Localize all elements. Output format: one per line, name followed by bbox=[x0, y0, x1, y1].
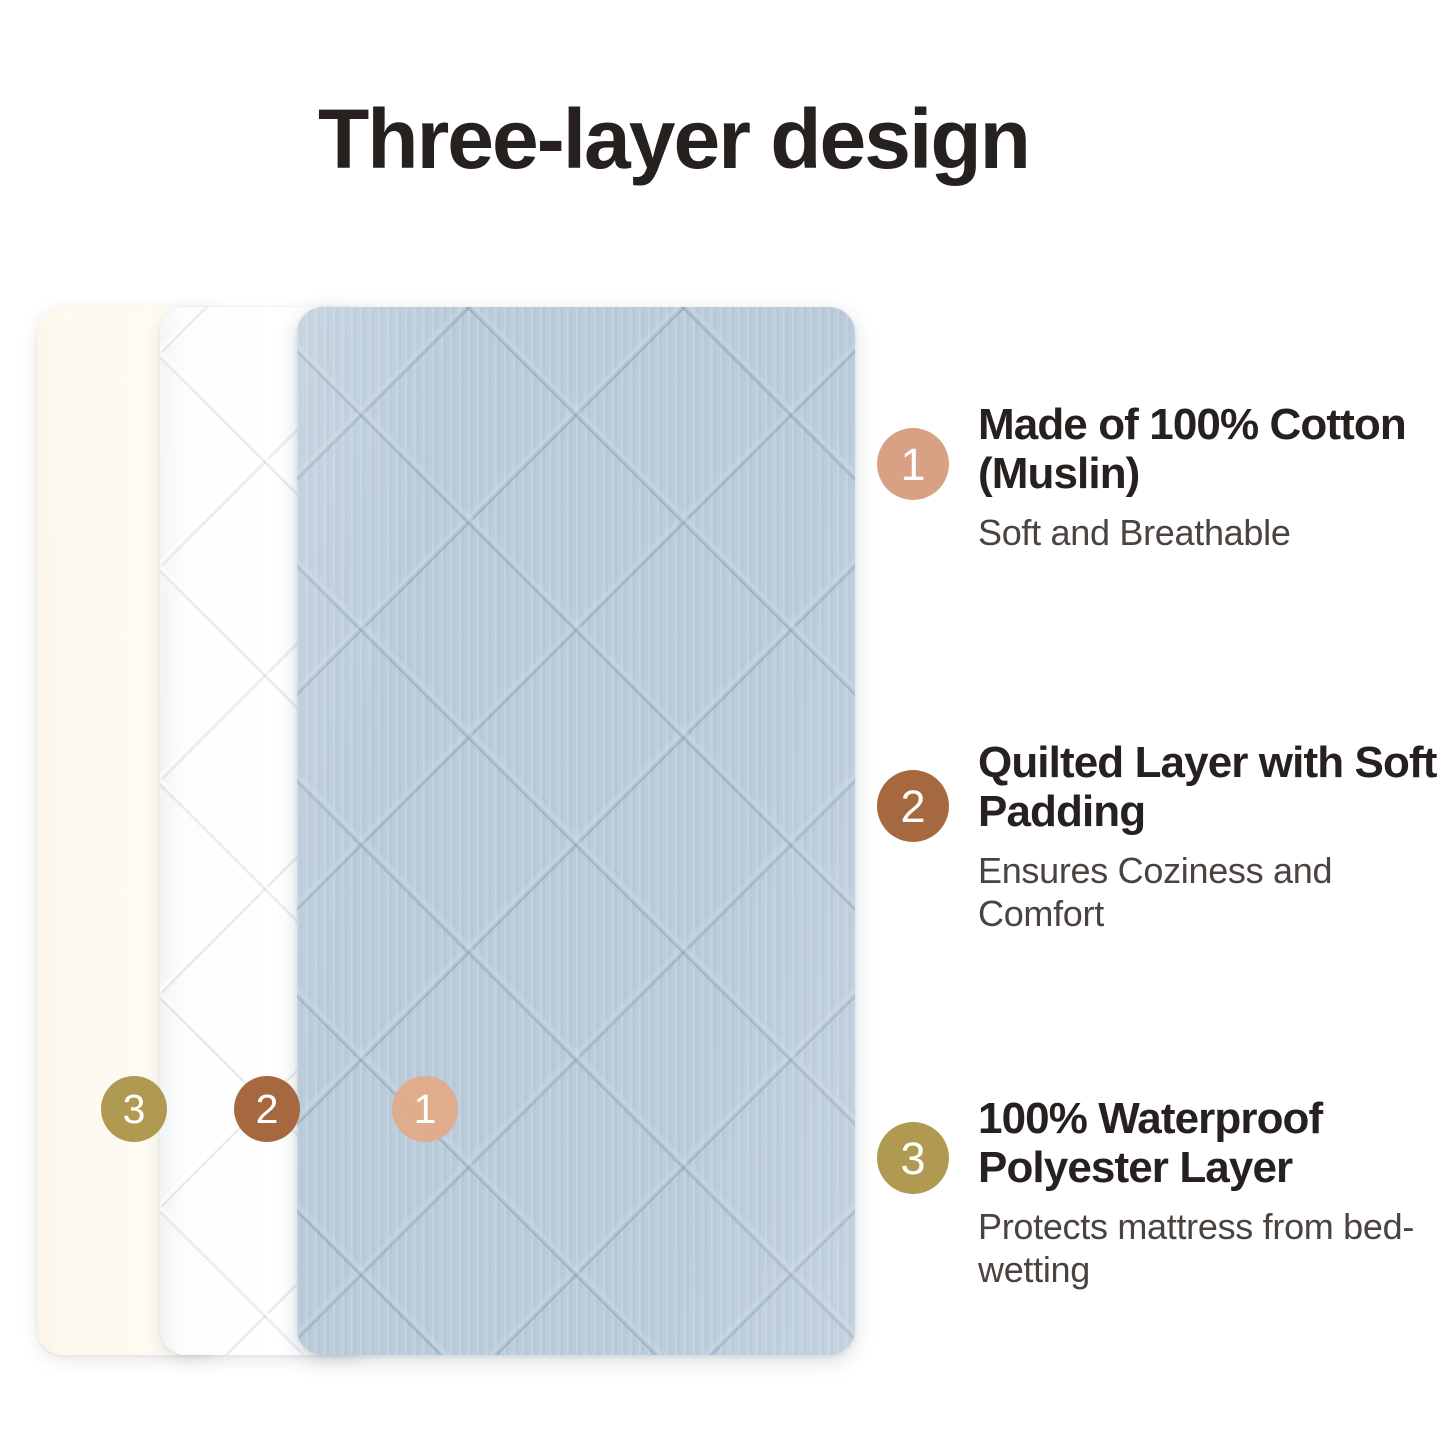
callout-3-subtext: Protects mattress from bed-wetting bbox=[978, 1205, 1445, 1293]
callout-1-subtext: Soft and Breathable bbox=[978, 511, 1445, 555]
callout-2-heading: Quilted Layer with Soft Padding bbox=[978, 738, 1445, 837]
callout-1-text: Made of 100% Cotton (Muslin) Soft and Br… bbox=[978, 400, 1445, 554]
callout-item-2: 2 Quilted Layer with Soft Padding Ensure… bbox=[877, 738, 1445, 936]
layer-badge-1: 1 bbox=[392, 1076, 458, 1142]
callout-2-text: Quilted Layer with Soft Padding Ensures … bbox=[978, 738, 1445, 936]
layer-1-sheen bbox=[297, 307, 855, 1355]
callout-badge-1: 1 bbox=[877, 428, 949, 500]
callout-2-subtext: Ensures Coziness and Comfort bbox=[978, 849, 1445, 937]
layer-badge-2: 2 bbox=[234, 1076, 300, 1142]
callout-badge-3: 3 bbox=[877, 1122, 949, 1194]
callout-1-heading: Made of 100% Cotton (Muslin) bbox=[978, 400, 1445, 499]
callout-item-3: 3 100% Waterproof Polyester Layer Protec… bbox=[877, 1094, 1445, 1292]
callout-badge-2: 2 bbox=[877, 770, 949, 842]
product-layer-1-cotton-muslin bbox=[297, 307, 855, 1355]
callout-3-text: 100% Waterproof Polyester Layer Protects… bbox=[978, 1094, 1445, 1292]
callout-3-heading: 100% Waterproof Polyester Layer bbox=[978, 1094, 1445, 1193]
layer-badge-3: 3 bbox=[101, 1076, 167, 1142]
infographic-canvas: Three-layer design 3 2 1 1 Made of 100% … bbox=[0, 0, 1445, 1445]
page-title: Three-layer design bbox=[318, 97, 1029, 181]
callout-item-1: 1 Made of 100% Cotton (Muslin) Soft and … bbox=[877, 400, 1445, 554]
product-layer-stack: 3 2 1 bbox=[37, 307, 855, 1355]
